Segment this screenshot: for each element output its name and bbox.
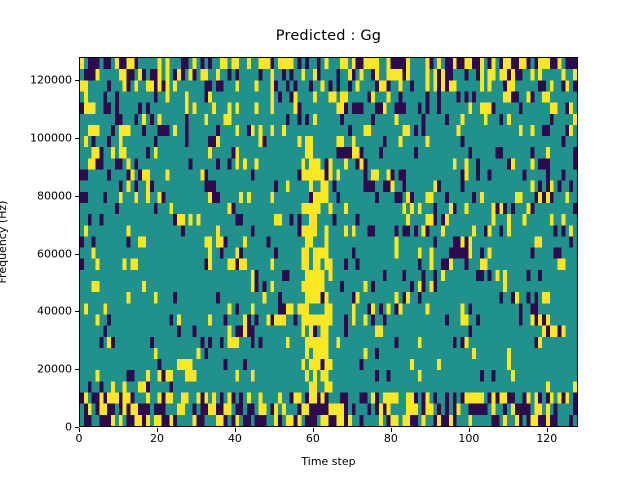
x-tick-label: 60 (306, 432, 320, 445)
y-tick-label: 120000 (10, 74, 72, 87)
x-tick-mark (235, 428, 236, 432)
x-tick-mark (157, 428, 158, 432)
x-tick-label: 40 (228, 432, 242, 445)
x-tick-mark (391, 428, 392, 432)
x-tick-mark (547, 428, 548, 432)
heatmap-image (80, 58, 577, 426)
matplotlib-figure: Predicted : Gg Frequency (Hz) 0200004000… (0, 0, 640, 480)
x-tick-mark (313, 428, 314, 432)
y-axis-label: Frequency (Hz) (0, 201, 9, 284)
x-tick-label: 0 (76, 432, 83, 445)
x-tick-label: 120 (536, 432, 557, 445)
y-tick-label: 40000 (10, 305, 72, 318)
x-tick-mark (79, 428, 80, 432)
page-title: Predicted : Gg (79, 28, 578, 44)
x-tick-label: 100 (458, 432, 479, 445)
x-tick-label: 80 (384, 432, 398, 445)
y-tick-label: 80000 (10, 189, 72, 202)
x-tick-mark (469, 428, 470, 432)
x-axis-label: Time step (79, 455, 578, 468)
y-tick-label: 20000 (10, 363, 72, 376)
heatmap-canvas (80, 58, 577, 426)
y-tick-label: 100000 (10, 131, 72, 144)
y-tick-label: 0 (10, 421, 72, 434)
plot-area[interactable] (79, 57, 578, 427)
y-tick-label: 60000 (10, 247, 72, 260)
x-tick-label: 20 (150, 432, 164, 445)
